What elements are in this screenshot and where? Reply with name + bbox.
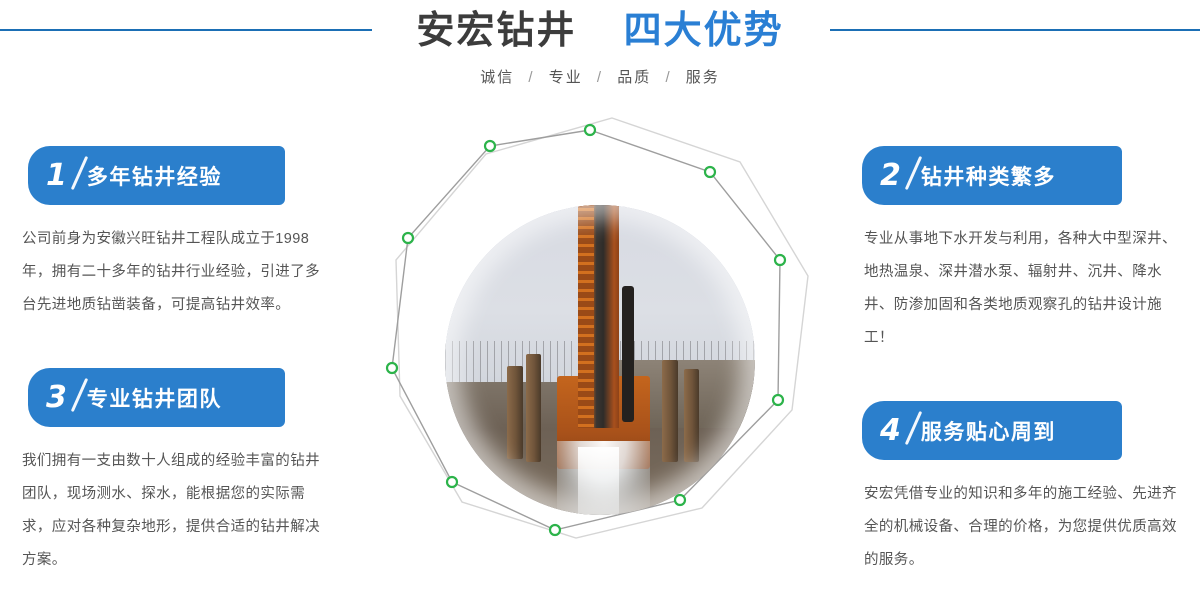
page-root: { "header": { "title_dark": "安宏钻井", "tit… bbox=[0, 0, 1200, 600]
feature-4-badge[interactable]: 4 服务贴心周到 bbox=[862, 401, 1122, 460]
page-title: 安宏钻井 四大优势 bbox=[0, 8, 1200, 54]
subtitle-item-3: 品质 bbox=[617, 69, 651, 86]
node-marker bbox=[775, 255, 785, 265]
node-marker bbox=[705, 167, 715, 177]
features-column-right: 2 钻井种类繁多 专业从事地下水开发与利用，各种大中型深井、地热温泉、深井潜水泵… bbox=[860, 130, 1200, 577]
subtitle-separator-2: / bbox=[589, 69, 611, 86]
feature-card-2[interactable]: 2 钻井种类繁多 专业从事地下水开发与利用，各种大中型深井、地热温泉、深井潜水泵… bbox=[860, 146, 1200, 355]
page-title-brand: 安宏钻井 bbox=[416, 10, 576, 52]
center-graphic: 钻井机施工现场出水照片 bbox=[380, 110, 820, 600]
node-marker bbox=[585, 125, 595, 135]
feature-card-1[interactable]: 1 多年钻井经验 公司前身为安徽兴旺钻井工程队成立于1998年，拥有二十多年的钻… bbox=[0, 146, 340, 322]
subtitle-item-4: 服务 bbox=[686, 69, 720, 86]
photo-edge-fade bbox=[445, 205, 755, 515]
features-column-left: 1 多年钻井经验 公司前身为安徽兴旺钻井工程队成立于1998年，拥有二十多年的钻… bbox=[0, 130, 340, 577]
feature-2-title: 钻井种类繁多 bbox=[921, 161, 1056, 191]
feature-1-title: 多年钻井经验 bbox=[87, 161, 222, 191]
slash-icon bbox=[905, 155, 922, 189]
node-marker bbox=[773, 395, 783, 405]
feature-card-4[interactable]: 4 服务贴心周到 安宏凭借专业的知识和多年的施工经验、先进齐全的机械设备、合理的… bbox=[860, 401, 1200, 577]
slash-icon bbox=[71, 377, 88, 411]
feature-2-number: 2 bbox=[880, 161, 921, 191]
feature-3-number: 3 bbox=[46, 383, 87, 413]
feature-3-number-value: 3 bbox=[46, 380, 67, 415]
subtitle-item-2: 专业 bbox=[549, 69, 583, 86]
feature-4-number-value: 4 bbox=[880, 413, 901, 448]
node-marker bbox=[387, 363, 397, 373]
feature-4-number: 4 bbox=[880, 416, 921, 446]
feature-1-number-value: 1 bbox=[46, 158, 67, 193]
feature-3-body: 我们拥有一支由数十人组成的经验丰富的钻井团队，现场测水、探水，能根据您的实际需求… bbox=[0, 445, 340, 577]
feature-1-badge[interactable]: 1 多年钻井经验 bbox=[28, 146, 285, 205]
slash-icon bbox=[71, 155, 88, 189]
feature-4-title: 服务贴心周到 bbox=[921, 416, 1056, 446]
feature-card-3[interactable]: 3 专业钻井团队 我们拥有一支由数十人组成的经验丰富的钻井团队，现场测水、探水，… bbox=[0, 368, 340, 577]
page-subtitle: 诚信 / 专业 / 品质 / 服务 bbox=[0, 66, 1200, 87]
feature-2-body: 专业从事地下水开发与利用，各种大中型深井、地热温泉、深井潜水泵、辐射井、沉井、降… bbox=[860, 223, 1200, 355]
drilling-rig-photo: 钻井机施工现场出水照片 bbox=[445, 205, 755, 515]
subtitle-item-1: 诚信 bbox=[480, 69, 514, 86]
feature-1-body: 公司前身为安徽兴旺钻井工程队成立于1998年，拥有二十多年的钻井行业经验，引进了… bbox=[0, 223, 340, 322]
slash-icon bbox=[905, 410, 922, 444]
node-marker bbox=[485, 141, 495, 151]
feature-3-title: 专业钻井团队 bbox=[87, 383, 222, 413]
node-marker bbox=[403, 233, 413, 243]
subtitle-separator-3: / bbox=[657, 69, 679, 86]
node-marker bbox=[550, 525, 560, 535]
feature-2-number-value: 2 bbox=[880, 158, 901, 193]
feature-4-body: 安宏凭借专业的知识和多年的施工经验、先进齐全的机械设备、合理的价格，为您提供优质… bbox=[860, 478, 1200, 577]
feature-2-badge[interactable]: 2 钻井种类繁多 bbox=[862, 146, 1122, 205]
feature-3-badge[interactable]: 3 专业钻井团队 bbox=[28, 368, 285, 427]
feature-1-number: 1 bbox=[46, 161, 87, 191]
page-title-highlight: 四大优势 bbox=[624, 10, 784, 52]
subtitle-separator-1: / bbox=[520, 69, 542, 86]
page-header: 安宏钻井 四大优势 诚信 / 专业 / 品质 / 服务 bbox=[0, 0, 1200, 108]
